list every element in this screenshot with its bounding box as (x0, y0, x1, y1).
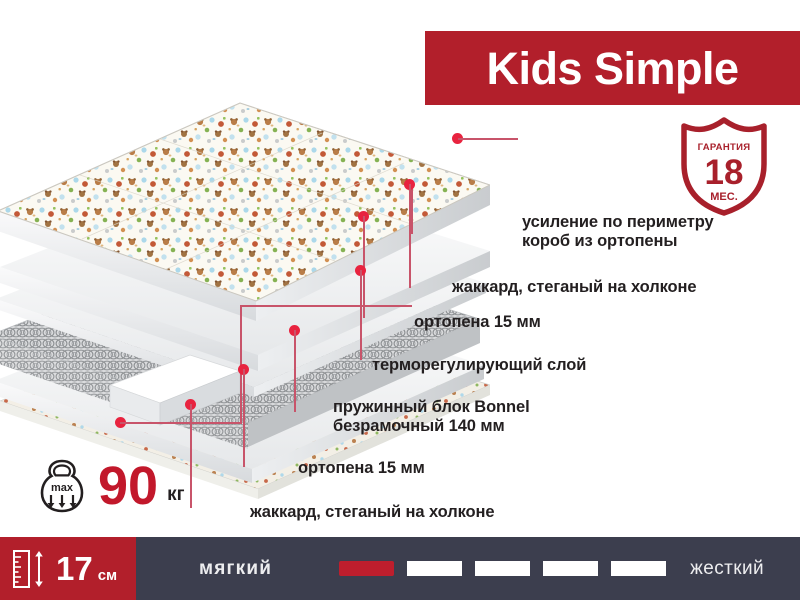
guarantee-value: 18 (705, 153, 744, 192)
callout-ortopena-top: ортопена 15 мм (414, 313, 541, 332)
product-title-banner: Kids Simple (425, 31, 800, 105)
leader-line-ortopena-bottom (243, 369, 245, 467)
firmness-segment-1[interactable] (339, 561, 394, 576)
leader-line-jacquard-bottom (190, 404, 192, 508)
firmness-segment-5[interactable] (611, 561, 666, 576)
kettlebell-icon: max (36, 458, 88, 514)
leader-line-perimeter-h (120, 422, 242, 424)
callout-jacquard-top: жаккард, стеганый на холконе (452, 278, 696, 297)
leader-line-perimeter-label (458, 138, 518, 140)
shield-icon: ГАРАНТИЯ 18 МЕС. (676, 116, 772, 216)
height-spec-block: 17 см (0, 537, 136, 600)
leader-line-thermo (360, 270, 362, 360)
firmness-hard-label: жесткий (690, 558, 764, 580)
page-title: Kids Simple (486, 46, 738, 91)
callout-jacquard-bottom: жаккард, стеганый на холконе (250, 503, 494, 522)
guarantee-unit: МЕС. (710, 191, 738, 203)
product-poster: Kids Simple ГАРАНТИЯ 18 МЕС. усиление по… (0, 0, 800, 600)
leader-line-jacquard-top (409, 184, 411, 288)
firmness-segment-2[interactable] (407, 561, 462, 576)
max-weight-value: 90 (98, 459, 158, 513)
kettlebell-max-label: max (51, 482, 74, 494)
firmness-scale: мягкий жесткий (136, 537, 800, 600)
guarantee-badge: ГАРАНТИЯ 18 МЕС. (676, 116, 772, 216)
callout-ortopena-bottom: ортопена 15 мм (298, 459, 425, 478)
max-weight-unit: кг (167, 484, 184, 506)
callout-perimeter: усиление по периметру короб из ортопены (522, 213, 714, 251)
max-weight-block: max 90 кг (36, 458, 185, 514)
firmness-soft-label: мягкий (199, 558, 272, 580)
bottom-bar: 17 см мягкий жесткий (0, 537, 800, 600)
callout-bonnel: пружинный блок Bonnel безрамочный 140 мм (333, 398, 530, 436)
guarantee-top-label: ГАРАНТИЯ (698, 142, 751, 153)
leader-line-perimeter-top (240, 305, 412, 307)
callout-thermo: терморегулирующий слой (372, 356, 586, 375)
height-unit: см (98, 567, 117, 584)
leader-line-bonnel (294, 330, 296, 412)
firmness-segments (339, 561, 666, 576)
firmness-segment-4[interactable] (543, 561, 598, 576)
mattress-illustration (0, 85, 490, 505)
firmness-segment-3[interactable] (475, 561, 530, 576)
height-value: 17 (56, 552, 93, 585)
ruler-icon (12, 548, 50, 590)
